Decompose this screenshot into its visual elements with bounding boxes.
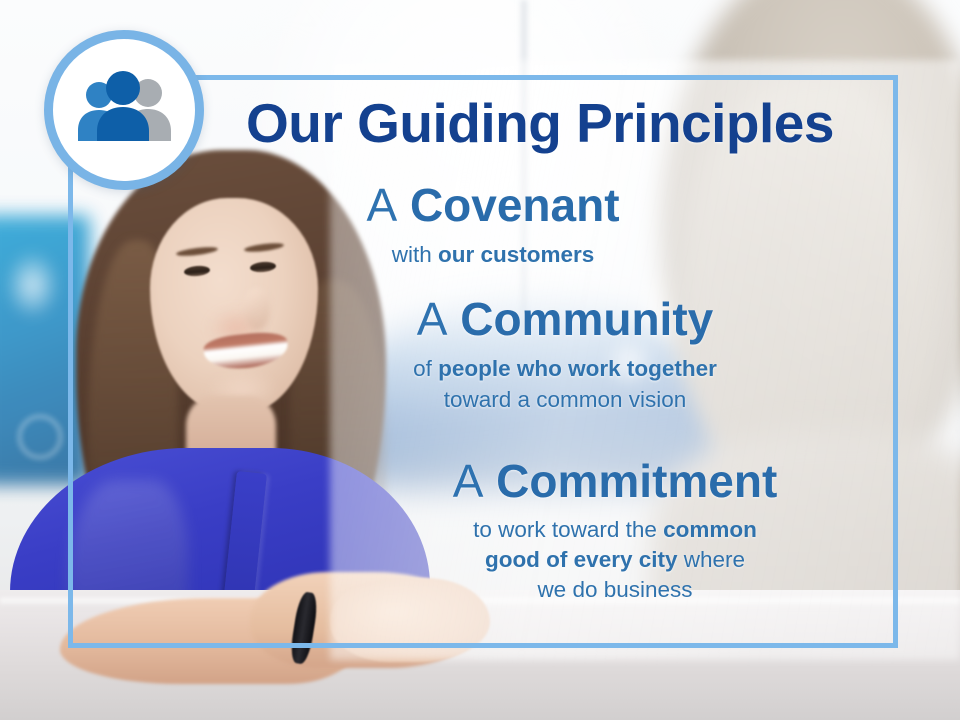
principle-subtext: with our customers (258, 239, 728, 270)
subtext-line3: we do business (537, 577, 692, 602)
subtext-regular: to work toward the (473, 517, 663, 542)
subtext-line2: toward a common vision (444, 387, 687, 412)
principle-key-word: Community (460, 293, 713, 345)
principle-covenant: A Covenant with our customers (258, 182, 728, 270)
principle-key-word: Covenant (410, 179, 620, 231)
subtext-line2-regular: where (678, 547, 746, 572)
principle-lead-word: A (366, 179, 397, 231)
subtext-regular: of (413, 356, 438, 381)
subtext-bold: our customers (438, 242, 594, 267)
subtext-regular: with (392, 242, 438, 267)
principle-commitment: A Commitment to work toward the common g… (355, 458, 875, 605)
subtext-line2-bold: good of every city (485, 547, 678, 572)
principle-key-word: Commitment (496, 455, 777, 507)
subtext-bold: people who work together (438, 356, 717, 381)
principle-community: A Community of people who work together … (300, 296, 830, 415)
page-title: Our Guiding Principles (210, 96, 870, 151)
principle-heading: A Community (300, 296, 830, 344)
principle-heading: A Commitment (355, 458, 875, 506)
text-content: Our Guiding Principles A Covenant with o… (0, 0, 960, 720)
principle-subtext: to work toward the common good of every … (355, 515, 875, 605)
principle-lead-word: A (453, 455, 484, 507)
guiding-principles-graphic: FLOW FLOW Our Guiding Pr (0, 0, 960, 720)
subtext-bold: common (663, 517, 757, 542)
principle-lead-word: A (417, 293, 448, 345)
principle-subtext: of people who work together toward a com… (300, 353, 830, 415)
principle-heading: A Covenant (258, 182, 728, 230)
